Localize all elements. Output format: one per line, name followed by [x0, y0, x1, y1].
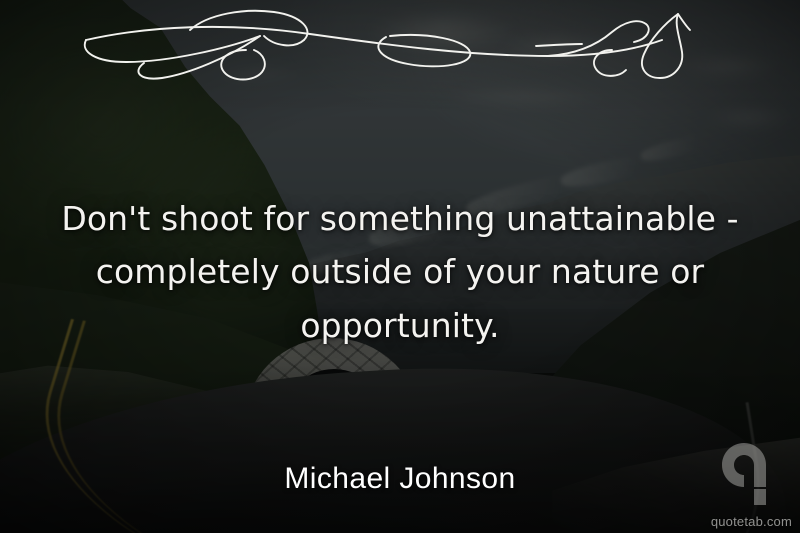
card-content: Don't shoot for something unattainable -…	[0, 0, 800, 533]
quote-text: Don't shoot for something unattainable -…	[50, 192, 750, 352]
quote-author: Michael Johnson	[0, 462, 800, 496]
quotetab-q-logo-icon[interactable]	[722, 443, 778, 505]
watermark[interactable]: quotetab.com	[696, 443, 792, 529]
quote-card: Don't shoot for something unattainable -…	[0, 0, 800, 533]
flourish-ornament-icon	[78, 6, 723, 88]
watermark-wordmark[interactable]: quotetab.com	[696, 514, 792, 529]
